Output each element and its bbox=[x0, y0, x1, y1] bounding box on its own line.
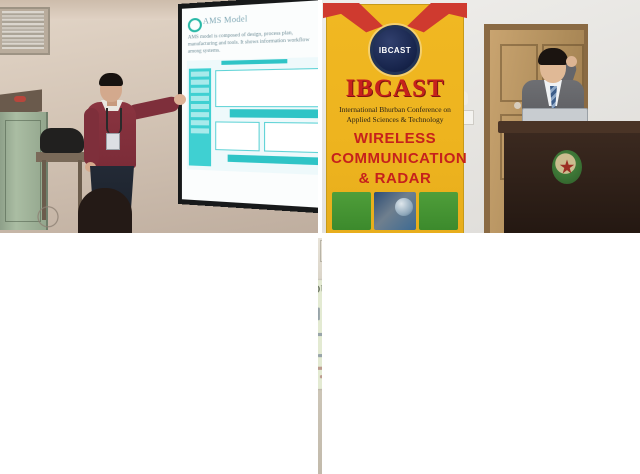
ibcast-seal-logo: IBCAST bbox=[370, 25, 420, 75]
slide-title: OUS RESEARCH WORKS bbox=[318, 284, 322, 297]
projected-slide: AMS Model AMS model is composed of desig… bbox=[182, 0, 318, 208]
projected-slide: OUS RESEARCH WORKS bbox=[318, 280, 322, 389]
ring-logo-icon bbox=[188, 18, 202, 33]
slide-text-line bbox=[318, 354, 322, 358]
banner-theme-line-1: WIRELESS bbox=[331, 129, 459, 149]
slide-title: AMS Model bbox=[203, 14, 248, 26]
diagram-top-bar bbox=[221, 59, 288, 65]
seal-text: IBCAST bbox=[379, 46, 411, 55]
photo-panel-top-left: AMS Model AMS model is composed of desig… bbox=[0, 0, 318, 233]
diagram-box bbox=[215, 121, 259, 151]
photo-panel-top-right: IBCAST IBCAST International Bhurban Conf… bbox=[322, 0, 640, 233]
banner-theme-line-3: & RADAR bbox=[331, 169, 459, 189]
presenter-hair bbox=[99, 73, 123, 86]
slide-diagram bbox=[187, 57, 318, 175]
banner-subtitle: International Bhurban Conference on Appl… bbox=[333, 105, 457, 125]
photo-collage: AMS Model AMS model is composed of desig… bbox=[0, 0, 640, 474]
slide-bullet-marker bbox=[318, 308, 320, 321]
podium-top bbox=[498, 121, 640, 133]
banner-footer-strip bbox=[329, 189, 461, 233]
id-badge bbox=[106, 133, 120, 150]
podium-crest-emblem-icon bbox=[552, 150, 582, 184]
door-knob-icon bbox=[514, 102, 521, 109]
speaker-hand bbox=[566, 56, 577, 67]
gutter-horizontal-right bbox=[0, 238, 318, 474]
presenter-left-arm bbox=[84, 108, 99, 166]
slide-text-line bbox=[318, 333, 322, 336]
banner-acronym: IBCAST bbox=[327, 75, 463, 103]
banner-theme-line-2: COMMUNICATION bbox=[331, 149, 459, 169]
diagram-bar bbox=[228, 155, 318, 166]
black-bag bbox=[40, 128, 84, 153]
banner-footer-green bbox=[332, 192, 371, 230]
slide-highlight-line bbox=[318, 366, 322, 370]
projection-screen-frame: AMS Model AMS model is composed of desig… bbox=[178, 0, 318, 214]
diagram-box bbox=[264, 122, 318, 153]
blind-slats-icon bbox=[2, 11, 44, 49]
ceiling-tile bbox=[320, 240, 322, 262]
banner-footer-globe-image bbox=[374, 192, 417, 230]
slide-highlight-line bbox=[320, 374, 322, 378]
window-frame bbox=[0, 7, 50, 55]
diagram-bar bbox=[230, 109, 318, 118]
diagram-left-column bbox=[189, 68, 211, 166]
suspended-ceiling bbox=[318, 238, 322, 286]
audience-head-silhouette bbox=[78, 188, 132, 233]
lanyard-icon bbox=[106, 108, 122, 134]
podium bbox=[504, 128, 640, 233]
photo-panel-bottom-left: OUS RESEARCH WORKS IBCAST IBCAST Inter bbox=[318, 238, 322, 474]
gutter-vertical-bottom bbox=[322, 238, 640, 474]
diagram-box bbox=[215, 68, 318, 107]
presenter-hand bbox=[174, 94, 186, 105]
banner-footer-green bbox=[419, 192, 458, 230]
window-blinds bbox=[2, 11, 44, 49]
slide-body-text: AMS model is composed of design, process… bbox=[188, 28, 318, 55]
red-object bbox=[14, 96, 26, 102]
banner-theme: WIRELESS COMMUNICATION & RADAR bbox=[331, 129, 459, 189]
light-switch-plate bbox=[463, 110, 474, 125]
ibcast-banner: IBCAST IBCAST International Bhurban Conf… bbox=[326, 4, 464, 233]
speaker-hair bbox=[538, 48, 568, 65]
